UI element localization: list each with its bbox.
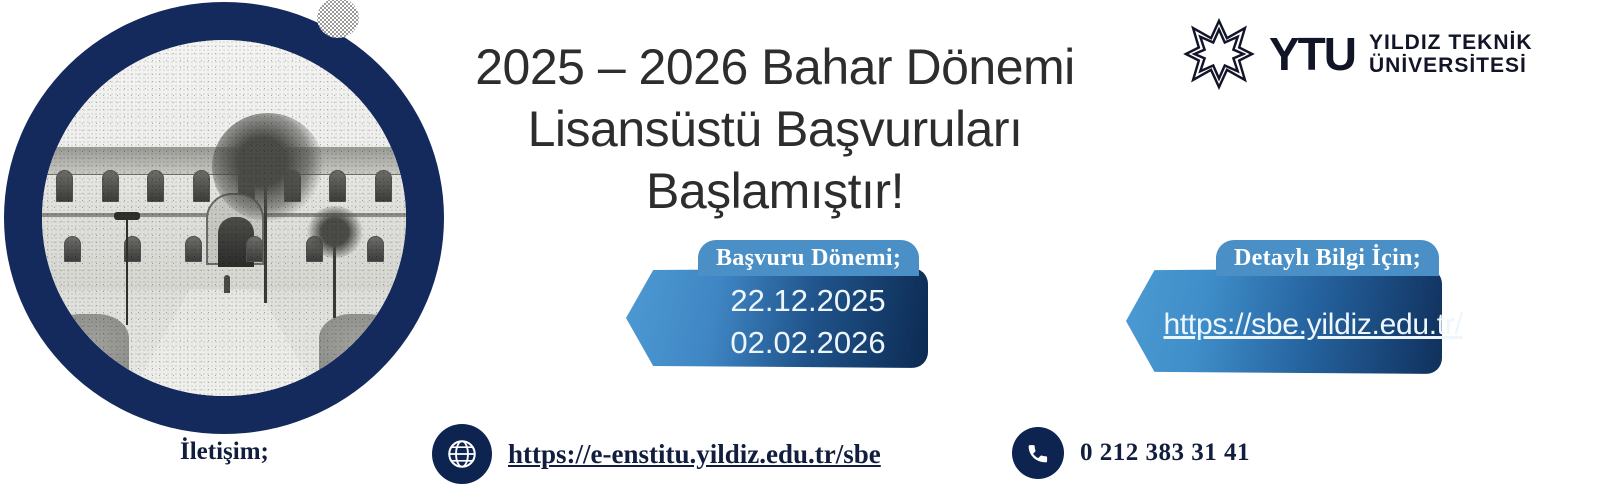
logo-line-1: YILDIZ TEKNİK: [1369, 31, 1533, 54]
phone-icon: [1012, 427, 1064, 479]
headline-line-2: Lisansüstü Başvuruları: [430, 98, 1120, 160]
contact-phone[interactable]: 0 212 383 31 41: [1012, 427, 1250, 479]
poster-canvas: 2025 – 2026 Bahar Dönemi Lisansüstü Başv…: [0, 0, 1600, 500]
lawn-left: [49, 314, 129, 375]
headline-line-1: 2025 – 2026 Bahar Dönemi: [430, 36, 1120, 98]
application-period-badge: Başvuru Dönemi; 22.12.2025 02.02.2026: [626, 240, 936, 376]
tree-small: [333, 232, 336, 317]
window: [185, 236, 202, 262]
badge-body: https://sbe.yildiz.edu.tr/: [1184, 276, 1442, 374]
phone-number-text[interactable]: 0 212 383 31 41: [1080, 439, 1250, 467]
window: [102, 170, 119, 202]
ytu-logo: YTU YILDIZ TEKNİK ÜNİVERSİTESİ: [1183, 18, 1533, 90]
contact-website[interactable]: https://e-enstitu.yildiz.edu.tr/sbe: [432, 424, 881, 484]
application-end-date: 02.02.2026: [730, 323, 885, 363]
window: [193, 170, 210, 202]
website-url-text[interactable]: https://e-enstitu.yildiz.edu.tr/sbe: [508, 439, 881, 470]
lawn-right: [319, 314, 399, 375]
logo-line-2: ÜNİVERSİTESİ: [1369, 54, 1533, 77]
tree-large: [264, 147, 267, 304]
sbe-website-link[interactable]: https://sbe.yildiz.edu.tr/: [1164, 308, 1463, 342]
window: [367, 236, 384, 262]
logo-wordmark: YILDIZ TEKNİK ÜNİVERSİTESİ: [1369, 31, 1533, 77]
pedestrian: [224, 275, 230, 293]
window: [56, 170, 73, 202]
window: [329, 170, 346, 202]
campus-photo: [4, 2, 444, 434]
badge-header-label: Detaylı Bilgi İçin;: [1216, 240, 1439, 276]
window: [375, 170, 392, 202]
window: [246, 236, 263, 262]
headline-line-3: Başlamıştır!: [430, 160, 1120, 222]
eight-point-star-icon: [1183, 18, 1255, 90]
badge-header-label: Başvuru Dönemi;: [698, 240, 919, 276]
window: [147, 170, 164, 202]
contact-label: İletişim;: [180, 438, 269, 466]
page-title: 2025 – 2026 Bahar Dönemi Lisansüstü Başv…: [430, 36, 1120, 222]
badge-body: 22.12.2025 02.02.2026: [688, 276, 928, 368]
application-start-date: 22.12.2025: [730, 281, 885, 321]
window: [64, 236, 81, 262]
globe-icon: [432, 424, 492, 484]
campus-illustration: [42, 40, 406, 396]
street-lamp: [126, 218, 128, 325]
halftone-dot-icon: [317, 0, 359, 38]
details-info-badge: Detaylı Bilgi İçin; https://sbe.yildiz.e…: [1126, 240, 1446, 380]
logo-abbreviation: YTU: [1269, 31, 1355, 77]
